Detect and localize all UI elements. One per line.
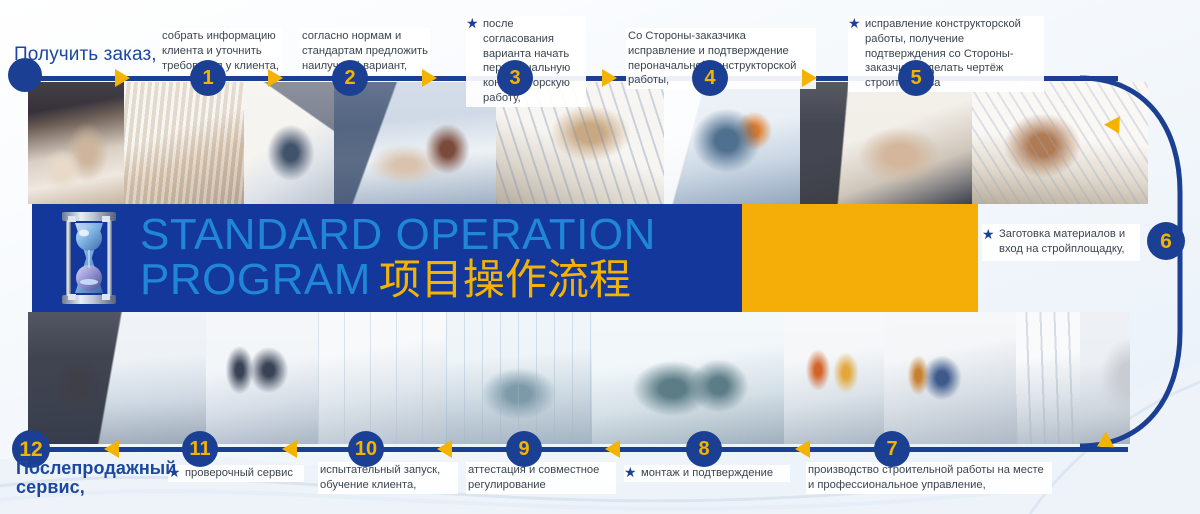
photo-bottom-6 xyxy=(784,312,884,444)
photo-top-2 xyxy=(124,82,244,204)
photo-top-6 xyxy=(664,82,800,204)
step-caption-10: испытательный запуск, обучение клиента, xyxy=(318,462,458,494)
timeline-node-3[interactable]: 3 xyxy=(497,60,533,96)
timeline-arrow-10 xyxy=(437,440,452,458)
end-headline: Послепродажный сервис, xyxy=(16,459,176,497)
photo-strip-top xyxy=(28,82,1148,204)
step-10-number: 10 xyxy=(355,439,377,459)
hourglass-icon xyxy=(56,210,122,306)
timeline-node-1[interactable]: 1 xyxy=(190,60,226,96)
step-caption-8: ★ монтаж и подтверждение xyxy=(624,465,790,482)
timeline-node-5[interactable]: 5 xyxy=(898,60,934,96)
step-caption-5: ★ исправление конструкторской работы, по… xyxy=(848,16,1044,92)
infographic-canvas: Получить заказ, собрать информацию клиен… xyxy=(0,0,1200,514)
photo-strip-bottom xyxy=(28,312,1130,444)
star-icon: ★ xyxy=(848,17,861,30)
step-12-number: 12 xyxy=(19,439,42,460)
step-2-text: согласно нормам и стандартам предложить … xyxy=(302,30,428,72)
photo-top-7 xyxy=(800,82,972,204)
banner-title-line2-cn: 项目操作流程 xyxy=(379,256,631,303)
step-7-number: 7 xyxy=(886,439,897,459)
timeline-node-8[interactable]: 8 xyxy=(686,431,722,467)
banner-accent-block xyxy=(742,204,978,312)
step-8-text: монтаж и подтверждение xyxy=(641,467,773,479)
photo-top-8 xyxy=(972,82,1148,204)
timeline-arrow-8 xyxy=(795,440,810,458)
timeline-arrow-4 xyxy=(602,69,617,87)
step-7-text: производство строительной работы на мест… xyxy=(808,464,1044,491)
timeline-node-6[interactable]: 6 xyxy=(1147,222,1185,260)
step-11-text: проверочный сервис xyxy=(185,467,293,479)
photo-bottom-7 xyxy=(884,312,1016,444)
photo-bottom-9 xyxy=(1080,312,1130,444)
photo-bottom-1 xyxy=(28,312,206,444)
step-10-text: испытательный запуск, обучение клиента, xyxy=(320,464,440,491)
step-4-number: 4 xyxy=(704,68,715,88)
step-9-text: аттестация и совместное регулирование xyxy=(468,464,599,491)
photo-top-3 xyxy=(244,82,334,204)
step-caption-3: ★ после согласования варианта начать пер… xyxy=(466,16,586,107)
timeline-node-7[interactable]: 7 xyxy=(874,431,910,467)
photo-top-1 xyxy=(28,82,124,204)
step-1-number: 1 xyxy=(202,68,213,88)
banner-title-line1: STANDARD OPERATION xyxy=(140,213,656,258)
timeline-node-10[interactable]: 10 xyxy=(348,431,384,467)
timeline-arrow-9 xyxy=(605,440,620,458)
step-6-number: 6 xyxy=(1160,231,1172,252)
step-2-number: 2 xyxy=(344,68,355,88)
step-caption-11: ★ проверочный сервис xyxy=(168,465,304,482)
timeline-node-4[interactable]: 4 xyxy=(692,60,728,96)
step-5-text: исправление конструкторской работы, полу… xyxy=(865,18,1021,89)
step-3-number: 3 xyxy=(509,68,520,88)
photo-bottom-3 xyxy=(318,312,446,444)
step-caption-6: ★ Заготовка материалов и вход на стройпл… xyxy=(982,224,1140,261)
timeline-node-2[interactable]: 2 xyxy=(332,60,368,96)
banner-title: STANDARD OPERATION PROGRAM项目操作流程 xyxy=(140,213,656,303)
timeline-arrow-3 xyxy=(422,69,437,87)
timeline-arrow-12 xyxy=(104,440,119,458)
step-11-number: 11 xyxy=(189,439,210,459)
timeline-node-9[interactable]: 9 xyxy=(506,431,542,467)
photo-bottom-5 xyxy=(592,312,784,444)
step-5-number: 5 xyxy=(910,68,921,88)
star-icon: ★ xyxy=(982,228,995,241)
star-icon: ★ xyxy=(466,17,479,30)
timeline-arrow-5 xyxy=(802,69,817,87)
timeline-arrow-2 xyxy=(268,69,283,87)
timeline-node-11[interactable]: 11 xyxy=(182,431,218,467)
timeline-arrow-11 xyxy=(282,440,297,458)
photo-bottom-2 xyxy=(206,312,318,444)
step-8-number: 8 xyxy=(698,439,709,459)
star-icon: ★ xyxy=(624,466,637,479)
timeline-arrow-1 xyxy=(115,69,130,87)
banner-title-line2-en: PROGRAM xyxy=(140,255,371,304)
step-6-text: Заготовка материалов и вход на стройплощ… xyxy=(999,228,1125,255)
step-caption-7: производство строительной работы на мест… xyxy=(806,462,1052,494)
start-headline: Получить заказ, xyxy=(14,44,157,66)
photo-bottom-4 xyxy=(446,312,592,444)
step-caption-9: аттестация и совместное регулирование xyxy=(466,462,616,494)
photo-bottom-8 xyxy=(1016,312,1080,444)
step-9-number: 9 xyxy=(518,439,529,459)
